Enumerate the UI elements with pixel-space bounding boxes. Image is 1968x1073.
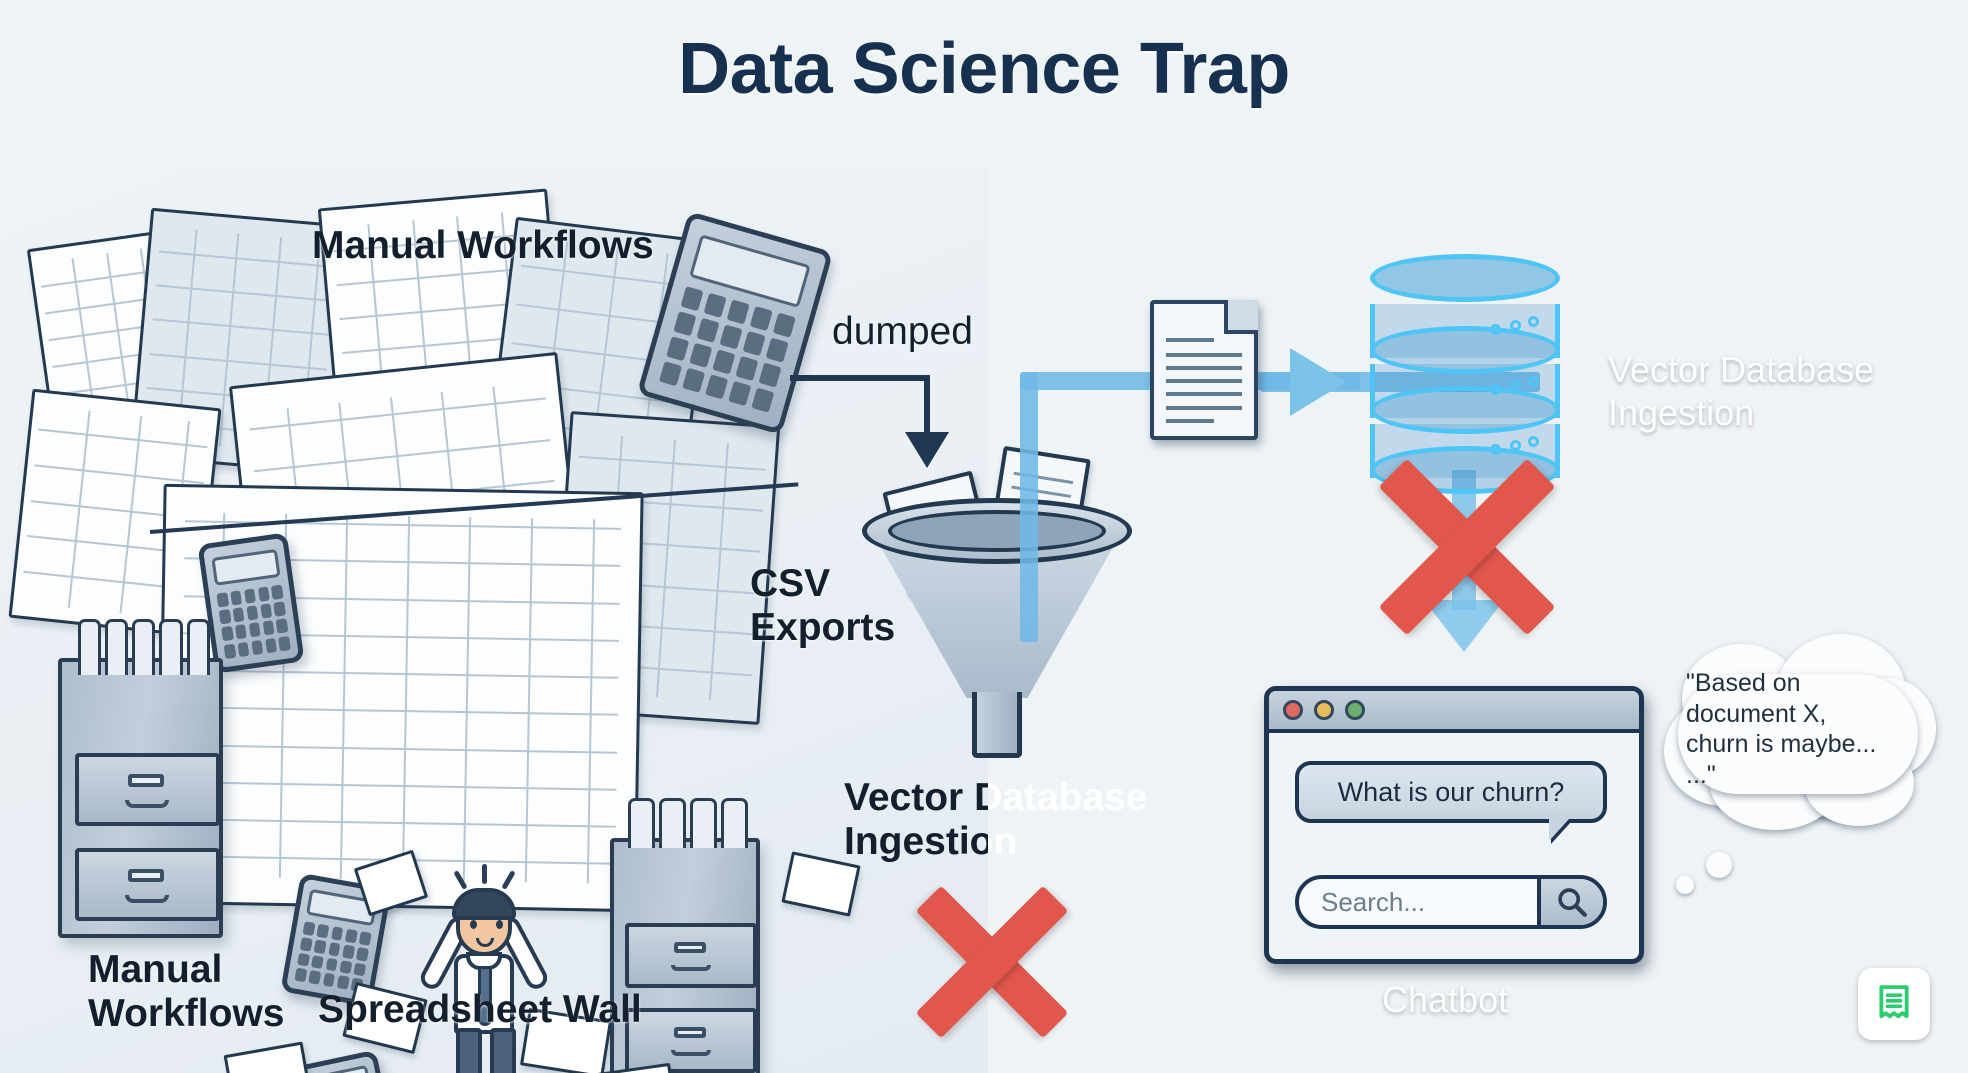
dumped-arrow-shaft [790, 375, 930, 381]
calculator-icon [197, 532, 304, 673]
thought-dot [1706, 852, 1732, 878]
receipt-document-icon [1871, 981, 1917, 1027]
drawer-handle [125, 895, 169, 903]
person-hair [452, 888, 516, 920]
label-vector-database-ingestion-left: Vector Database Ingestion Vector Databas… [844, 776, 1264, 872]
db-led [1490, 384, 1501, 395]
doc-line [1166, 406, 1242, 410]
db-disc [1370, 386, 1560, 434]
label-chatbot: Chatbot [1382, 978, 1508, 1021]
infographic-canvas: Data Science Trap [0, 0, 1968, 1073]
drawer-handle [671, 1050, 711, 1057]
stress-spark [482, 864, 487, 884]
drawer-plate [128, 774, 164, 787]
search-icon [1555, 885, 1589, 919]
label-manual-workflows-top: Manual Workflows [312, 224, 654, 268]
label-manual-workflows-bottom: Manual Workflows [88, 948, 284, 1035]
chat-message-text: What is our churn? [1338, 777, 1565, 808]
minimize-button[interactable] [1314, 700, 1334, 720]
calculator-keys [295, 921, 372, 992]
drawer-plate [674, 1027, 706, 1038]
calculator-screen [300, 1065, 371, 1073]
title-band: Data Science Trap [0, 0, 1968, 168]
chatbot-titlebar [1269, 691, 1639, 733]
calculator-keys [658, 286, 796, 413]
page-title: Data Science Trap [0, 28, 1968, 110]
stress-spark [501, 870, 515, 890]
drawer-plate [128, 869, 164, 882]
person-eye [496, 920, 503, 929]
calculator-screen [211, 549, 280, 587]
cabinet-folders [78, 619, 210, 675]
doc-line [1166, 379, 1242, 383]
doc-line [1166, 353, 1242, 357]
person-leg-right [490, 1028, 516, 1073]
person-leg-left [456, 1028, 482, 1073]
label-spreadsheet-wall: Spreadsheet Wall [318, 988, 642, 1032]
db-top-disc [1370, 254, 1560, 302]
db-led [1528, 376, 1539, 387]
chat-message-bubble: What is our churn? [1295, 761, 1607, 823]
db-disc [1370, 326, 1560, 374]
search-input[interactable]: Search... [1299, 887, 1537, 918]
brand-logo[interactable] [1858, 968, 1930, 1040]
db-led [1510, 380, 1521, 391]
stressed-person-icon [398, 868, 568, 1073]
cabinet-folders [628, 798, 748, 848]
funnel-rim-inner [888, 510, 1106, 552]
drawer-plate [674, 942, 706, 953]
cabinet-drawer [625, 923, 757, 988]
filing-cabinet-icon [58, 658, 223, 938]
document-fold [1224, 300, 1258, 334]
search-bar[interactable]: Search... [1295, 875, 1607, 929]
label-csv-exports: CSV Exports [750, 562, 895, 649]
flow-arrow-head [1290, 348, 1346, 416]
cabinet-drawer [75, 848, 220, 921]
calculator-keys [217, 584, 291, 659]
cabinet-drawer [75, 753, 220, 826]
thought-bubble: "Based on document X, churn is maybe... … [1664, 634, 1932, 834]
bubble-tail [1549, 819, 1569, 841]
drawer-handle [125, 800, 169, 808]
thought-dot [1676, 876, 1694, 894]
document-icon [1150, 300, 1258, 440]
thought-bubble-text: "Based on document X, churn is maybe... … [1686, 668, 1916, 790]
search-button[interactable] [1537, 879, 1603, 925]
cabinet-drawer [625, 1008, 757, 1073]
red-x-icon [902, 872, 1082, 1052]
db-led [1490, 324, 1501, 335]
stress-spark [453, 870, 467, 890]
funnel-stem [972, 692, 1022, 758]
drawer-handle [671, 965, 711, 972]
label-vector-database-ingestion-right: Vector Database Ingestion [1608, 348, 1874, 434]
person-eye [470, 920, 477, 929]
db-led [1528, 316, 1539, 327]
loose-paper [224, 1041, 313, 1073]
chatbot-window[interactable]: What is our churn? Search... [1264, 686, 1644, 964]
doc-line [1166, 419, 1214, 423]
doc-line [1166, 338, 1214, 342]
dumped-arrow-head [905, 432, 949, 468]
funnel-icon: PDF [862, 470, 1132, 770]
red-x-icon [1362, 442, 1572, 652]
dumped-arrow-shaft [924, 375, 930, 437]
label-dumped: dumped [832, 310, 973, 354]
db-led [1510, 320, 1521, 331]
doc-line [1166, 366, 1242, 370]
filing-cabinet-icon [610, 838, 760, 1073]
doc-line [1166, 392, 1242, 396]
close-button[interactable] [1283, 700, 1303, 720]
maximize-button[interactable] [1345, 700, 1365, 720]
flow-pipe [1020, 372, 1038, 642]
